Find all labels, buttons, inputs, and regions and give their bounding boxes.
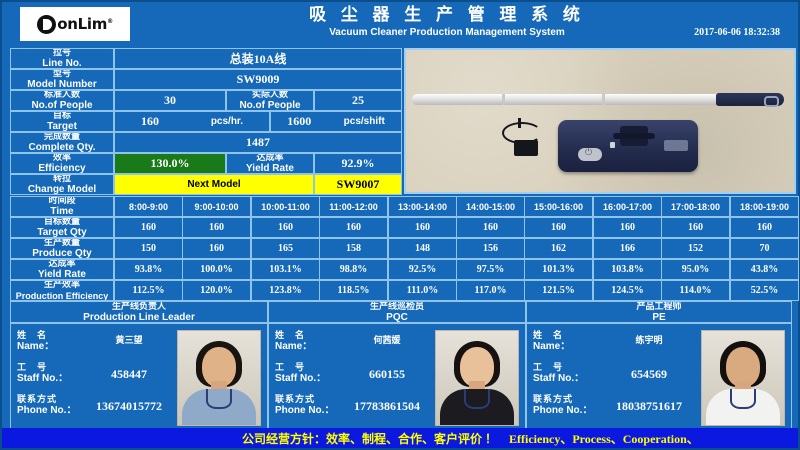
field-value-staff-no-0: 458447	[89, 367, 169, 382]
field-label-phone-0: 联系方式Phone No.：	[17, 394, 76, 417]
cell-production-efficiency-1: 120.0%	[182, 280, 251, 301]
value-model-number: SW9009	[114, 69, 402, 90]
time-header-3: 11:00-12:00	[319, 196, 388, 217]
field-value-name-1: 何茜媛	[347, 335, 427, 346]
field-label-name-1: 姓 名Name：	[275, 330, 312, 353]
staff-role-header-2: 产品工程师PE	[526, 301, 792, 323]
field-label-name-0: 姓 名Name：	[17, 330, 54, 353]
staff-role-en: Production Line Leader	[83, 312, 195, 324]
cell-yield-rate-1: 100.0%	[182, 259, 251, 280]
field-label-phone-2: 联系方式Phone No.：	[533, 394, 592, 417]
label-cn: 生产数量	[44, 238, 80, 248]
staff-card-0: 姓 名Name：黄三望工 号Staff No.：458447联系方式Phone …	[10, 323, 268, 431]
app-header: onLim® 吸 尘 器 生 产 管 理 系 统 Vacuum Cleaner …	[2, 2, 798, 46]
label-change-model: 转拉 Change Model	[10, 174, 114, 195]
staff-card-2: 姓 名Name：练宇明工 号Staff No.：654569联系方式Phone …	[526, 323, 792, 431]
led-indicator-icon	[610, 142, 615, 148]
page-title: 吸 尘 器 生 产 管 理 系 统 Vacuum Cleaner Product…	[302, 4, 592, 39]
label-model-number: 型号 Model Number	[10, 69, 114, 90]
label-time: 时间段Time	[10, 196, 114, 217]
field-label-phone-1: 联系方式Phone No.：	[275, 394, 334, 417]
power-button-icon	[578, 148, 602, 161]
cell-target-qty-1: 160	[182, 217, 251, 238]
cell-target-qty-2: 160	[251, 217, 320, 238]
label-target: 目标 Target	[10, 111, 114, 132]
charger-adapter	[514, 140, 538, 156]
value-line-no: 总装10A线	[114, 48, 402, 69]
staff-photo-2	[701, 330, 785, 426]
time-header-6: 15:00-16:00	[524, 196, 593, 217]
field-label-staff-no-1: 工 号Staff No.：	[275, 362, 326, 385]
vacuum-main-body	[558, 120, 698, 172]
staff-fields-0: 姓 名Name：黄三望工 号Staff No.：458447联系方式Phone …	[11, 324, 177, 430]
time-header-4: 13:00-14:00	[388, 196, 457, 217]
staff-role-cn: 产品工程师	[636, 301, 681, 312]
cell-yield-rate-4: 92.5%	[388, 259, 457, 280]
registered-trademark-icon: ®	[107, 18, 113, 25]
field-label-name-2: 姓 名Name：	[533, 330, 570, 353]
field-value-name-0: 黄三望	[89, 335, 169, 346]
time-header-1: 9:00-10:00	[182, 196, 251, 217]
label-en: Produce Qty	[32, 248, 91, 259]
cell-produce-qty-2: 165	[251, 238, 320, 259]
cell-yield-rate-0: 93.8%	[114, 259, 183, 280]
time-header-9: 18:00-19:00	[730, 196, 799, 217]
label-en: Target Qty	[37, 227, 86, 238]
field-value-phone-1: 17783861504	[347, 399, 427, 414]
cell-target-qty-7: 160	[593, 217, 662, 238]
field-value-phone-0: 13674015772	[89, 399, 169, 414]
label-cn: 达成率	[48, 259, 75, 269]
cell-production-efficiency-2: 123.8%	[251, 280, 320, 301]
cell-produce-qty-4: 148	[388, 238, 457, 259]
field-label-staff-no-2: 工 号Staff No.：	[533, 362, 584, 385]
staff-fields-1: 姓 名Name：何茜媛工 号Staff No.：660155联系方式Phone …	[269, 324, 435, 430]
cell-yield-rate-6: 101.3%	[524, 259, 593, 280]
label-cn: 生产效率	[44, 280, 80, 290]
company-policy-banner: 公司经营方针：效率、制程、合作、客户评价 ！ Efficiency、Proces…	[2, 428, 798, 448]
cell-target-qty-8: 160	[661, 217, 730, 238]
production-dashboard: onLim® 吸 尘 器 生 产 管 理 系 统 Vacuum Cleaner …	[0, 0, 800, 450]
time-header-8: 17:00-18:00	[661, 196, 730, 217]
staff-card-1: 姓 名Name：何茜媛工 号Staff No.：660155联系方式Phone …	[268, 323, 526, 431]
label-en: Time	[50, 206, 73, 217]
cell-produce-qty-8: 152	[661, 238, 730, 259]
value-target-per-hour: 160 pcs/hr.	[114, 111, 270, 132]
label-yield-rate: 达成率 Yield Rate	[226, 153, 314, 174]
field-value-name-2: 练宇明	[605, 335, 693, 346]
field-value-phone-2: 18038751617	[605, 399, 693, 414]
label-en: Yield Rate	[38, 269, 86, 280]
time-header-2: 10:00-11:00	[251, 196, 320, 217]
label-efficiency: 效率 Efficiency	[10, 153, 114, 174]
cell-produce-qty-5: 156	[456, 238, 525, 259]
staff-role-en: PE	[652, 312, 665, 324]
label-actual-people: 实际人数 No.of People	[226, 90, 314, 111]
cell-produce-qty-0: 150	[114, 238, 183, 259]
label-en: Production Efficiency	[16, 290, 109, 301]
staff-role-header-0: 生产线负责人Production Line Leader	[10, 301, 268, 323]
product-photo	[404, 48, 796, 194]
label-line-no: 拉号 Line No.	[10, 48, 114, 69]
cell-yield-rate-5: 97.5%	[456, 259, 525, 280]
cell-production-efficiency-8: 114.0%	[661, 280, 730, 301]
photo-lanyard	[730, 389, 756, 409]
current-datetime: 2017-06-06 18:32:38	[694, 27, 780, 38]
cell-target-qty-0: 160	[114, 217, 183, 238]
staff-role-header-1: 生产线巡检员PQC	[268, 301, 526, 323]
value-complete-qty: 1487	[114, 132, 402, 153]
time-header-5: 14:00-15:00	[456, 196, 525, 217]
label-cn: 目标数量	[44, 217, 80, 227]
page-title-en: Vacuum Cleaner Production Management Sys…	[302, 26, 592, 39]
vacuum-hinge	[620, 126, 648, 146]
cell-production-efficiency-3: 118.5%	[319, 280, 388, 301]
cell-produce-qty-3: 158	[319, 238, 388, 259]
cell-produce-qty-9: 70	[730, 238, 799, 259]
page-title-cn: 吸 尘 器 生 产 管 理 系 统	[302, 4, 592, 26]
staff-photo-0	[177, 330, 261, 426]
logo-d-icon	[37, 15, 56, 34]
cell-produce-qty-1: 160	[182, 238, 251, 259]
cell-production-efficiency-9: 52.5%	[730, 280, 799, 301]
value-yield-rate: 92.9%	[314, 153, 402, 174]
cell-production-efficiency-6: 121.5%	[524, 280, 593, 301]
cell-production-efficiency-0: 112.5%	[114, 280, 183, 301]
cell-target-qty-6: 160	[524, 217, 593, 238]
value-actual-people: 25	[314, 90, 402, 111]
logo-wordmark: onLim®	[57, 17, 113, 32]
time-header-0: 8:00-9:00	[114, 196, 183, 217]
vacuum-wand-tip	[716, 93, 784, 106]
cell-target-qty-9: 160	[730, 217, 799, 238]
label-target-qty: 目标数量Target Qty	[10, 217, 114, 238]
value-standard-people: 30	[114, 90, 226, 111]
cell-yield-rate-8: 95.0%	[661, 259, 730, 280]
photo-lanyard	[206, 389, 232, 409]
cell-production-efficiency-7: 124.5%	[593, 280, 662, 301]
staff-role-cn: 生产线负责人	[112, 301, 166, 312]
cell-produce-qty-6: 162	[524, 238, 593, 259]
cell-produce-qty-7: 166	[593, 238, 662, 259]
label-complete-qty: 完成数量 Complete Qty.	[10, 132, 114, 153]
banner-text: 公司经营方针：效率、制程、合作、客户评价 ！ Efficiency、Proces…	[242, 430, 699, 447]
product-badge	[664, 140, 688, 151]
value-efficiency: 130.0%	[114, 153, 226, 174]
next-model-label: Next Model	[114, 174, 314, 195]
cell-target-qty-5: 160	[456, 217, 525, 238]
time-header-7: 16:00-17:00	[593, 196, 662, 217]
label-yield-rate: 达成率Yield Rate	[10, 259, 114, 280]
field-value-staff-no-1: 660155	[347, 367, 427, 382]
value-target-per-shift: 1600 pcs/shift	[270, 111, 402, 132]
cell-yield-rate-9: 43.8%	[730, 259, 799, 280]
cell-target-qty-3: 160	[319, 217, 388, 238]
photo-lanyard	[464, 389, 490, 409]
cell-yield-rate-2: 103.1%	[251, 259, 320, 280]
label-production-efficiency: 生产效率Production Efficiency	[10, 280, 114, 301]
next-model-value: SW9007	[314, 174, 402, 195]
cell-yield-rate-3: 98.8%	[319, 259, 388, 280]
cell-production-efficiency-4: 111.0%	[388, 280, 457, 301]
field-label-staff-no-0: 工 号Staff No.：	[17, 362, 68, 385]
cell-target-qty-4: 160	[388, 217, 457, 238]
cell-production-efficiency-5: 117.0%	[456, 280, 525, 301]
field-value-staff-no-2: 654569	[605, 367, 693, 382]
staff-photo-1	[435, 330, 519, 426]
label-cn: 时间段	[48, 196, 75, 206]
label-produce-qty: 生产数量Produce Qty	[10, 238, 114, 259]
cell-yield-rate-7: 103.8%	[593, 259, 662, 280]
staff-role-cn: 生产线巡检员	[370, 301, 424, 312]
staff-fields-2: 姓 名Name：练宇明工 号Staff No.：654569联系方式Phone …	[527, 324, 701, 430]
company-logo: onLim®	[20, 7, 130, 41]
staff-role-en: PQC	[386, 312, 408, 324]
label-standard-people: 标准人数 No.of People	[10, 90, 114, 111]
